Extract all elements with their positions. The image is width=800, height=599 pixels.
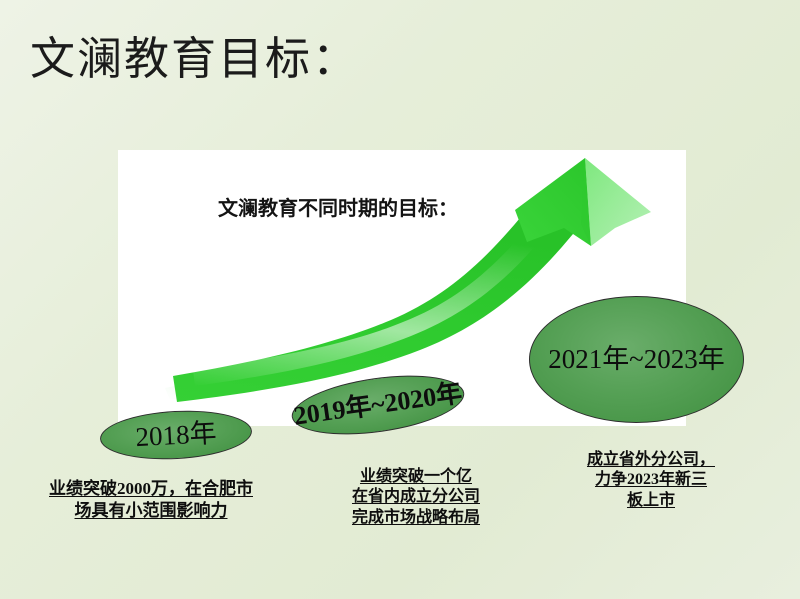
slide-canvas: 文澜教育目标： 文澜教育不同时期的目标： <box>0 0 800 599</box>
caption-line: 业绩突破2000万，在合肥市 <box>25 478 277 500</box>
panel-heading: 文澜教育不同时期的目标： <box>218 192 458 221</box>
milestone-ellipse-2021-2023[interactable]: 2021年~2023年 <box>529 296 744 423</box>
milestone-caption-2018: 业绩突破2000万，在合肥市 场具有小范围影响力 <box>25 478 277 522</box>
caption-line: 完成市场战略布局 <box>318 508 514 528</box>
milestone-label-2021-2023: 2021年~2023年 <box>548 346 725 373</box>
caption-line: 成立省外分公司， <box>548 450 754 470</box>
caption-line: 力争2023年新三 <box>548 470 754 490</box>
caption-line: 场具有小范围影响力 <box>25 500 277 522</box>
milestone-caption-2019-2020: 业绩突破一个亿 在省内成立分公司 完成市场战略布局 <box>318 467 514 528</box>
caption-line: 业绩突破一个亿 <box>318 467 514 487</box>
caption-line: 板上市 <box>548 491 754 511</box>
milestone-caption-2021-2023: 成立省外分公司， 力争2023年新三 板上市 <box>548 450 754 511</box>
milestone-label-2018: 2018年 <box>135 419 217 450</box>
page-title: 文澜教育目标： <box>30 22 359 87</box>
caption-line: 在省内成立分公司 <box>318 487 514 507</box>
